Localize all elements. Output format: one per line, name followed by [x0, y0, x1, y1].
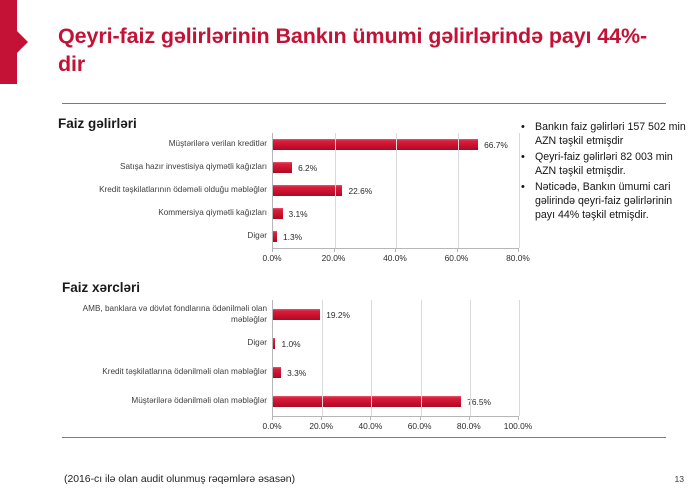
bar	[273, 309, 320, 320]
bar-category-label: Kommersiya qiymətli kağızları	[58, 208, 272, 219]
gridline	[396, 179, 397, 202]
bar-value-label: 22.6%	[342, 186, 372, 196]
gridline	[371, 300, 372, 329]
chart-bar-row: Digər1.0%	[58, 329, 518, 358]
bar-category-label: Satışa hazır investisiya qiymətli kağızl…	[58, 162, 272, 173]
gridline	[470, 358, 471, 387]
list-item: •Nəticədə, Bankın ümumi cari gəlirində q…	[521, 180, 693, 222]
gridline	[421, 329, 422, 358]
bar-category-label: Kredit təşkilatlarına ödənilməli olan mə…	[58, 367, 272, 378]
chart-bar-row: Kredit təşkilatlarının ödəməli olduğu mə…	[58, 179, 518, 202]
chart-bar-row: AMB, banklara və dövlət fondlarına ödəni…	[58, 300, 518, 329]
gridline	[396, 133, 397, 156]
gridline	[470, 387, 471, 416]
bar-category-label: Müştərilərə verilan kreditlər	[58, 139, 272, 150]
axis-tick-label: 80.0%	[457, 421, 481, 431]
chart-x-axis: 0.0%20.0%40.0%60.0%80.0%	[58, 248, 518, 265]
gridline	[335, 156, 336, 179]
axis-tick-label: 80.0%	[506, 253, 530, 263]
chart-x-axis: 0.0%20.0%40.0%60.0%80.0%100.0%	[58, 416, 518, 433]
axis-tick-label: 0.0%	[262, 253, 281, 263]
axis-tick-label: 20.0%	[322, 253, 346, 263]
gridline	[335, 179, 336, 202]
gridline	[519, 300, 520, 329]
gridline	[519, 358, 520, 387]
gridline	[458, 225, 459, 248]
chart-bar-row: Kredit təşkilatlarına ödənilməli olan mə…	[58, 358, 518, 387]
list-item-text: Qeyri-faiz gəlirləri 82 003 min AZN təşk…	[535, 150, 693, 178]
axis-tick	[518, 416, 519, 420]
bar	[273, 139, 478, 150]
axis-tick	[272, 248, 273, 252]
bar-category-label: Kredit təşkilatlarının ödəməli olduğu mə…	[58, 185, 272, 196]
page-number: 13	[674, 474, 684, 484]
axis-track: 0.0%20.0%40.0%60.0%80.0%	[272, 248, 518, 265]
gridline	[519, 387, 520, 416]
chart-bar-row: Müştərilərə verilan kreditlər66.7%	[58, 133, 518, 156]
chart-bar-row: Satışa hazır investisiya qiymətli kağızl…	[58, 156, 518, 179]
bar-category-label: Müştərilərə ödənilməli olan məbləğlər	[58, 396, 272, 407]
bar-plot-area: 22.6%	[272, 179, 518, 202]
axis-tick-label: 40.0%	[359, 421, 383, 431]
bar-value-label: 3.3%	[281, 368, 306, 378]
bar-value-label: 1.3%	[277, 232, 302, 242]
gridline	[396, 156, 397, 179]
bar-plot-area: 1.3%	[272, 225, 518, 248]
bullet-dot-icon: •	[521, 180, 535, 222]
chevron-right-icon	[17, 31, 28, 53]
gridline	[371, 358, 372, 387]
bar-value-label: 1.0%	[275, 339, 300, 349]
gridline	[458, 179, 459, 202]
axis-tick	[321, 416, 322, 420]
gridline	[322, 329, 323, 358]
bar	[273, 162, 292, 173]
gridline	[371, 329, 372, 358]
page-title: Qeyri-faiz gəlirlərinin Bankın ümumi gəl…	[58, 22, 668, 78]
axis-tick	[370, 416, 371, 420]
axis-tick-label: 20.0%	[309, 421, 333, 431]
list-item: •Bankın faiz gəlirləri 157 502 min AZN t…	[521, 120, 693, 148]
chart-bar-row: Müştərilərə ödənilməli olan məbləğlər76.…	[58, 387, 518, 416]
bar-plot-area: 3.1%	[272, 202, 518, 225]
gridline	[335, 225, 336, 248]
gridline	[421, 387, 422, 416]
gridline	[458, 156, 459, 179]
bullet-dot-icon: •	[521, 150, 535, 178]
axis-spacer	[58, 416, 272, 433]
summary-bullet-list: •Bankın faiz gəlirləri 157 502 min AZN t…	[521, 120, 693, 224]
axis-tick	[469, 416, 470, 420]
bar	[273, 208, 283, 219]
axis-tick	[272, 416, 273, 420]
gridline	[322, 300, 323, 329]
gridline	[470, 329, 471, 358]
chart-bar-row: Digər1.3%	[58, 225, 518, 248]
gridline	[519, 202, 520, 225]
gridline	[421, 358, 422, 387]
bar-category-label: Digər	[58, 338, 272, 349]
bar-plot-area: 6.2%	[272, 156, 518, 179]
bar-plot-area: 76.5%	[272, 387, 518, 416]
axis-tick	[395, 248, 396, 252]
chart-faiz-xercleri: AMB, banklara və dövlət fondlarına ödəni…	[58, 300, 518, 433]
gridline	[519, 179, 520, 202]
axis-tick-label: 100.0%	[504, 421, 532, 431]
bullet-dot-icon: •	[521, 120, 535, 148]
gridline	[322, 387, 323, 416]
gridline	[458, 202, 459, 225]
bar-value-label: 76.5%	[461, 397, 491, 407]
axis-tick-label: 40.0%	[383, 253, 407, 263]
gridline	[335, 202, 336, 225]
bar-category-label: Digər	[58, 231, 272, 242]
gridline	[335, 133, 336, 156]
chart-faiz-gelirleri: Müştərilərə verilan kreditlər66.7%Satışa…	[58, 133, 518, 265]
axis-line	[272, 416, 518, 417]
axis-tick-label: 0.0%	[262, 421, 281, 431]
axis-tick-label: 60.0%	[445, 253, 469, 263]
section-heading-income: Faiz gəlirləri	[58, 116, 137, 131]
gridline	[470, 300, 471, 329]
divider-bottom	[62, 437, 666, 438]
bar-value-label: 6.2%	[292, 163, 317, 173]
list-item: •Qeyri-faiz gəlirləri 82 003 min AZN təş…	[521, 150, 693, 178]
axis-tick-label: 60.0%	[408, 421, 432, 431]
gridline	[396, 225, 397, 248]
gridline	[322, 358, 323, 387]
bar-plot-area: 19.2%	[272, 300, 518, 329]
gridline	[421, 300, 422, 329]
bar	[273, 396, 461, 407]
gridline	[519, 133, 520, 156]
gridline	[371, 387, 372, 416]
axis-tick	[420, 416, 421, 420]
bar-value-label: 3.1%	[283, 209, 308, 219]
bar-plot-area: 66.7%	[272, 133, 518, 156]
gridline	[519, 329, 520, 358]
list-item-text: Nəticədə, Bankın ümumi cari gəlirində qe…	[535, 180, 693, 222]
axis-tick	[457, 248, 458, 252]
left-accent-bar	[0, 0, 17, 84]
bar	[273, 185, 342, 196]
list-item-text: Bankın faiz gəlirləri 157 502 min AZN tə…	[535, 120, 693, 148]
chart-bar-row: Kommersiya qiymətli kağızları3.1%	[58, 202, 518, 225]
gridline	[519, 225, 520, 248]
gridline	[458, 133, 459, 156]
bar-value-label: 66.7%	[478, 140, 508, 150]
bar-value-label: 19.2%	[320, 310, 350, 320]
axis-spacer	[58, 248, 272, 265]
section-heading-expense: Faiz xərcləri	[62, 280, 140, 295]
axis-track: 0.0%20.0%40.0%60.0%80.0%100.0%	[272, 416, 518, 433]
bar-plot-area: 3.3%	[272, 358, 518, 387]
axis-tick	[334, 248, 335, 252]
bar	[273, 367, 281, 378]
axis-tick	[518, 248, 519, 252]
footer-note: (2016-cı ilə olan audit olunmuş rəqəmlər…	[64, 474, 295, 485]
divider-top	[62, 103, 666, 104]
bar-plot-area: 1.0%	[272, 329, 518, 358]
gridline	[396, 202, 397, 225]
bar-category-label: AMB, banklara və dövlət fondlarına ödəni…	[58, 304, 272, 325]
gridline	[519, 156, 520, 179]
